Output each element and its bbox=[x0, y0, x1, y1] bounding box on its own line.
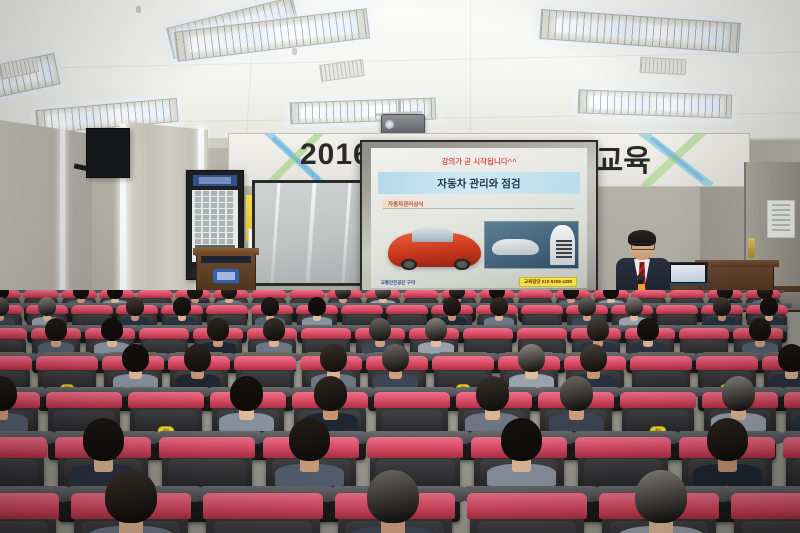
seat[interactable]: 좌석53 bbox=[734, 512, 800, 533]
audience-head bbox=[107, 290, 123, 299]
seat-cushion bbox=[669, 290, 705, 298]
lectern-name-plate bbox=[201, 256, 251, 263]
audience-member bbox=[722, 376, 755, 411]
audience-head bbox=[122, 344, 149, 372]
posted-notice-sheet bbox=[767, 200, 795, 238]
audience-head bbox=[760, 297, 778, 316]
audience-head bbox=[207, 318, 229, 341]
audience-head bbox=[625, 297, 643, 316]
audience-member bbox=[382, 344, 409, 372]
audience-head bbox=[375, 290, 391, 299]
audience-member bbox=[603, 290, 619, 299]
fluorescent-light-fixture bbox=[539, 9, 741, 53]
whiteboard bbox=[252, 180, 376, 286]
wall-speaker bbox=[86, 128, 130, 178]
audience-member bbox=[184, 344, 211, 372]
audience-member bbox=[635, 470, 687, 523]
audience-member bbox=[0, 297, 9, 316]
audience-head bbox=[476, 376, 509, 411]
audience-member bbox=[707, 418, 748, 461]
slide-footer-contact: 교육담당 010-5258-4380 bbox=[519, 277, 577, 287]
audience-head bbox=[501, 418, 542, 461]
audience-head bbox=[578, 297, 596, 316]
audience-head bbox=[230, 376, 263, 411]
audience-member bbox=[83, 418, 124, 461]
seat-cushion bbox=[203, 493, 324, 519]
seat-cushion bbox=[0, 437, 47, 458]
audience-head bbox=[0, 376, 17, 411]
audience-head bbox=[173, 297, 191, 316]
audience-member bbox=[45, 318, 67, 341]
seat-cushion bbox=[36, 356, 97, 370]
audience-member bbox=[261, 297, 279, 316]
glasses-icon bbox=[631, 243, 655, 250]
seat-cushion bbox=[620, 392, 696, 409]
audience-head bbox=[722, 376, 755, 411]
audience-head bbox=[778, 344, 800, 372]
slide-footer-org: 교통안전공단 구미 bbox=[381, 280, 415, 286]
audience-member bbox=[126, 297, 144, 316]
audience-member bbox=[443, 297, 461, 316]
seat-cushion bbox=[386, 305, 428, 314]
board-header bbox=[193, 175, 237, 186]
laptop-screen bbox=[668, 262, 708, 285]
red-sedan-photo bbox=[388, 233, 482, 266]
sprinkler-head bbox=[292, 48, 297, 55]
audience-member bbox=[425, 318, 447, 341]
audience-head bbox=[335, 290, 351, 299]
blue-sign-plate bbox=[213, 269, 239, 283]
audience-member bbox=[749, 318, 771, 341]
audience-member bbox=[713, 297, 731, 316]
seat-cushion bbox=[0, 328, 27, 339]
air-vent bbox=[640, 57, 687, 75]
audience-member bbox=[518, 344, 545, 372]
seat-cushion bbox=[367, 437, 462, 458]
audience-member bbox=[122, 344, 149, 372]
seat-cushion bbox=[467, 493, 588, 519]
audience-head bbox=[490, 297, 508, 316]
audience-head bbox=[314, 376, 347, 411]
left-wall bbox=[0, 120, 92, 310]
seat-cushion bbox=[139, 328, 190, 339]
audience-head bbox=[261, 297, 279, 316]
audience-member bbox=[580, 344, 607, 372]
audience-member bbox=[637, 318, 659, 341]
silver-car bbox=[492, 239, 539, 255]
audience-member bbox=[625, 297, 643, 316]
audience-member bbox=[73, 290, 89, 299]
audience-head bbox=[749, 318, 771, 341]
audience-head bbox=[308, 297, 326, 316]
audience-head bbox=[443, 297, 461, 316]
slide-title: 자동차 관리와 점검 bbox=[378, 172, 579, 193]
seat-cushion bbox=[46, 392, 122, 409]
audience-head bbox=[73, 290, 89, 299]
audience-head bbox=[563, 290, 579, 299]
seat-cushion bbox=[630, 356, 691, 370]
window-light-strip bbox=[60, 118, 65, 294]
audience-member bbox=[369, 318, 391, 341]
seat-cushion bbox=[679, 328, 730, 339]
audience-member bbox=[173, 297, 191, 316]
lecture-hall-photo: 2016 험교육 강의가 곧 bbox=[0, 0, 800, 533]
seat-cushion bbox=[301, 328, 352, 339]
audience-head bbox=[126, 297, 144, 316]
seat-cushion bbox=[71, 305, 113, 314]
audience-head bbox=[105, 470, 157, 523]
seat[interactable]: 좌석52 bbox=[470, 512, 584, 533]
audience-member bbox=[375, 290, 391, 299]
audience-head bbox=[289, 418, 330, 461]
audience-member bbox=[308, 297, 326, 316]
seat-cushion bbox=[784, 392, 800, 409]
audience-head bbox=[707, 418, 748, 461]
audience-head bbox=[38, 297, 56, 316]
seat-cushion bbox=[731, 493, 800, 519]
audience-member bbox=[490, 297, 508, 316]
slide-subtitle: 강의가 곧 시작됩니다^^ bbox=[362, 156, 596, 167]
seat-cushion bbox=[374, 392, 450, 409]
audience-member bbox=[105, 470, 157, 523]
audience-head bbox=[518, 344, 545, 372]
audience-member bbox=[367, 470, 419, 523]
seat-cushion bbox=[463, 328, 514, 339]
audience-head bbox=[367, 470, 419, 523]
audience-head bbox=[83, 418, 124, 461]
seat[interactable]: 좌석51 bbox=[206, 512, 320, 533]
lectern-top bbox=[193, 248, 259, 255]
audience-head bbox=[637, 318, 659, 341]
audience-head bbox=[369, 318, 391, 341]
seat-cushion bbox=[206, 305, 248, 314]
vehicle-inspection-lift-photo bbox=[484, 221, 580, 269]
audience-head bbox=[0, 297, 9, 316]
projection-screen: 강의가 곧 시작됩니다^^ 자동차 관리와 점검 자동차관리상식 교통안전공단 … bbox=[360, 140, 598, 296]
audience-member bbox=[314, 376, 347, 411]
audience-head bbox=[713, 297, 731, 316]
audience-member bbox=[230, 376, 263, 411]
audience-head bbox=[45, 318, 67, 341]
audience-member bbox=[335, 290, 351, 299]
audience-head bbox=[184, 344, 211, 372]
seat-cushion bbox=[517, 290, 553, 298]
seat[interactable]: 좌석49 bbox=[0, 512, 56, 533]
seat-cushion bbox=[517, 328, 568, 339]
audience-member bbox=[38, 297, 56, 316]
audience-member bbox=[320, 344, 347, 372]
audience-head bbox=[587, 318, 609, 341]
seat-cushion bbox=[0, 493, 59, 519]
seat-cushion bbox=[656, 305, 698, 314]
seat-cushion bbox=[432, 356, 493, 370]
audience-member bbox=[289, 418, 330, 461]
seat-cushion bbox=[783, 437, 800, 458]
audience-member bbox=[560, 376, 593, 411]
audience-member bbox=[587, 318, 609, 341]
door-handle[interactable] bbox=[748, 238, 755, 258]
slide-divider bbox=[383, 208, 575, 209]
audience-head bbox=[101, 318, 123, 341]
audience-head bbox=[382, 344, 409, 372]
audience-member bbox=[0, 376, 17, 411]
seat-cushion bbox=[403, 290, 439, 298]
audience-member bbox=[207, 318, 229, 341]
presentation-slide: 강의가 곧 시작됩니다^^ 자동차 관리와 점검 자동차관리상식 교통안전공단 … bbox=[362, 142, 596, 294]
audience-member bbox=[760, 297, 778, 316]
seat-cushion bbox=[128, 392, 204, 409]
audience-head bbox=[320, 344, 347, 372]
slide-title-band: 자동차 관리와 점검 bbox=[378, 172, 579, 193]
audience-member bbox=[221, 290, 237, 299]
sprinkler-head bbox=[136, 6, 141, 13]
audience-member bbox=[501, 418, 542, 461]
audience-member bbox=[107, 290, 123, 299]
audience-head bbox=[580, 344, 607, 372]
audience-head bbox=[263, 318, 285, 341]
seat-cushion bbox=[0, 356, 32, 370]
audience-member bbox=[578, 297, 596, 316]
audience-member bbox=[563, 290, 579, 299]
audience-head bbox=[635, 470, 687, 523]
seat-cushion bbox=[521, 305, 563, 314]
seat-cushion bbox=[234, 356, 295, 370]
audience-member bbox=[101, 318, 123, 341]
audience-head bbox=[221, 290, 237, 299]
audience-member bbox=[263, 318, 285, 341]
audience-head bbox=[425, 318, 447, 341]
audience-member bbox=[476, 376, 509, 411]
audience-head bbox=[560, 376, 593, 411]
seat-cushion bbox=[341, 305, 383, 314]
lift-control-panel bbox=[556, 240, 572, 259]
audience-head bbox=[603, 290, 619, 299]
audience-member bbox=[778, 344, 800, 372]
seat-cushion bbox=[159, 437, 254, 458]
audience-seating: 좌석43좌석46좌석47좌석48좌석49좌석51좌석52좌석53좌석55좌석61… bbox=[0, 290, 800, 533]
seat-cushion bbox=[575, 437, 670, 458]
seat-cushion bbox=[696, 356, 757, 370]
